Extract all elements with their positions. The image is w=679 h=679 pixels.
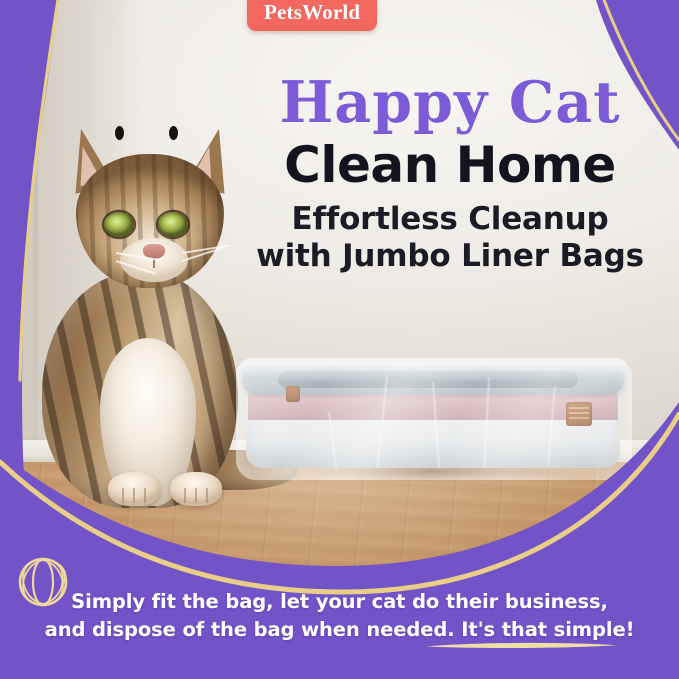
gold-underline-swoosh: [424, 641, 618, 649]
cat-eye-right: [158, 212, 188, 237]
headline-primary: Happy Cat: [232, 74, 668, 132]
advertisement-banner: PetsWorld Happy Cat Clean Home Effortles…: [0, 0, 679, 679]
brand-logo-text: PetsWorld: [264, 2, 360, 23]
bottom-banner-text: Simply fit the bag, let your cat do thei…: [0, 588, 679, 643]
liner-bag-top-fold: [240, 358, 628, 380]
subtext-line-1: Effortless Cleanup: [232, 201, 668, 238]
brand-logo-badge[interactable]: PetsWorld: [247, 0, 377, 31]
banner-line-2: and dispose of the bag when needed. It's…: [0, 616, 679, 644]
cat-eye-left: [104, 212, 134, 237]
headline-subtext: Effortless Cleanup with Jumbo Liner Bags: [232, 201, 668, 274]
banner-line-1: Simply fit the bag, let your cat do thei…: [0, 588, 679, 616]
cat-pupil-right: [169, 126, 178, 140]
cat-front-paw-right: [170, 472, 222, 506]
litter-box-with-liner-photo: [236, 352, 632, 484]
headline-block: Happy Cat Clean Home Effortless Cleanup …: [232, 74, 668, 274]
cat-front-paw-left: [108, 472, 160, 506]
cat-pupil-left: [115, 126, 124, 140]
subtext-line-2: with Jumbo Liner Bags: [232, 238, 668, 275]
headline-secondary: Clean Home: [232, 138, 668, 192]
